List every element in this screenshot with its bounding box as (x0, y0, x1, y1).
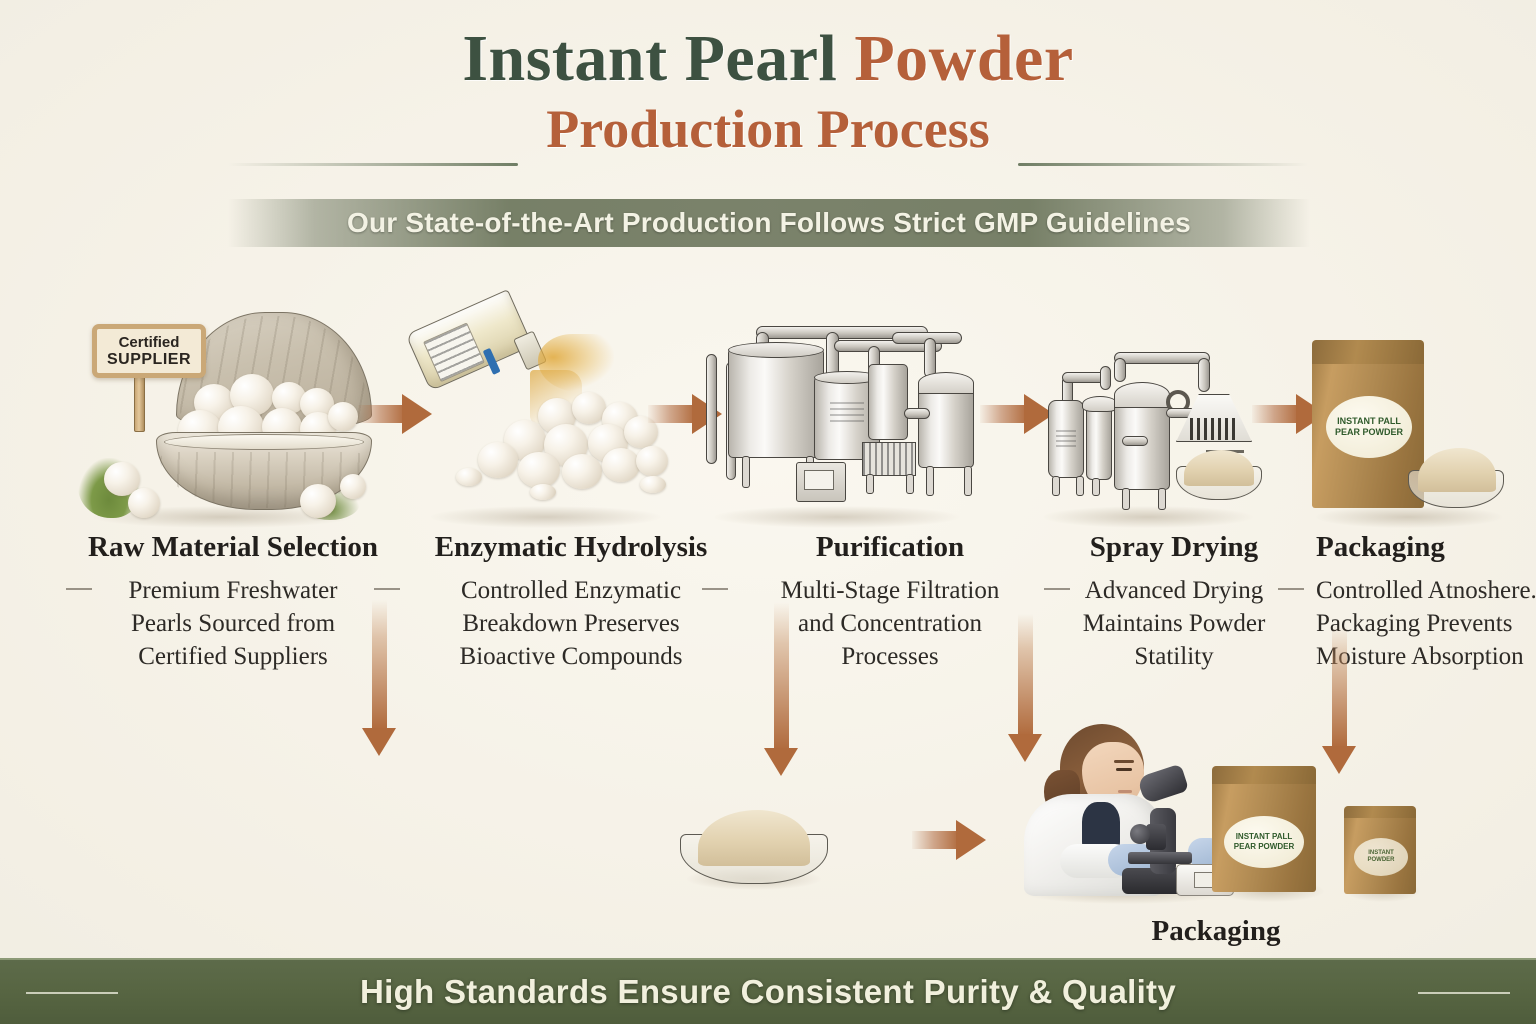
bag-label-line2: POWDER (1368, 857, 1395, 865)
subtitle-banner: Our State-of-the-Art Production Follows … (228, 199, 1310, 247)
product-bag-top-seal (1212, 766, 1316, 784)
purification-tank-right (918, 382, 974, 468)
arrow-head (362, 728, 396, 756)
arrow-shaft (774, 602, 789, 750)
step-title: Enzymatic Hydrolysis (416, 532, 726, 564)
page-title: Instant Pearl Powder (0, 24, 1536, 93)
arrow-shaft (912, 831, 960, 849)
product-bag-top-seal (1344, 806, 1416, 818)
mid-column (1086, 404, 1112, 480)
pearl (602, 448, 640, 482)
dryer-dome (1114, 382, 1170, 408)
illustration-enzymatic-hydrolysis (412, 328, 680, 524)
step-description: Advanced Drying Maintains Powder Statili… (1040, 574, 1308, 673)
bag-label-line2: PEAR POWDER (1234, 842, 1294, 852)
pearl (478, 442, 518, 478)
tank-gauge-text (830, 402, 864, 424)
arrow-head (956, 820, 986, 860)
pearl-loose (340, 474, 366, 499)
shadow (1043, 506, 1253, 528)
technician-mouth (1118, 790, 1132, 793)
pearl (636, 446, 668, 476)
pearl (572, 392, 606, 424)
shell-rim-highlight (164, 434, 364, 450)
illustration-purification (694, 316, 980, 524)
illustration-bottom-bag-large: INSTANT PALL PEAR POWDER (1208, 766, 1332, 898)
footer-banner: High Standards Ensure Consistent Purity … (0, 958, 1536, 1024)
arrow-shaft (1332, 626, 1347, 748)
tank-leg (742, 456, 750, 488)
pearl (518, 452, 560, 488)
pearl (562, 454, 602, 489)
pipe-horizontal (1114, 352, 1210, 364)
step-title: Packaging (1300, 532, 1536, 564)
decorative-dash (66, 588, 92, 590)
pearl-loose (128, 488, 160, 518)
step-title: Raw Material Selection (58, 532, 408, 564)
pipe-vertical (1100, 366, 1111, 390)
tank-leg (1158, 488, 1166, 510)
sign-label-line1: Certified (119, 334, 180, 351)
pearl-loose (300, 484, 336, 518)
microscope-focus-knob-icon (1130, 824, 1150, 844)
tank-lid (728, 342, 824, 358)
title-part-powder: Powder (854, 22, 1073, 95)
tank-leg (906, 474, 914, 494)
pipe-vertical (1198, 358, 1210, 392)
bag-label-line2: PEAR POWDER (1335, 427, 1403, 438)
illustration-raw-material-selection: Certified SUPPLIER (72, 306, 372, 524)
powder-heap (698, 810, 810, 866)
infographic-poster: Instant Pearl Powder Production Process … (0, 0, 1536, 1024)
product-bag-label: INSTANT PALL PEAR POWDER (1224, 816, 1304, 868)
shadow (714, 506, 960, 528)
step-desc-line: Premium Freshwater (58, 574, 408, 607)
pipe-outlet-low (1122, 436, 1148, 446)
divider-line-left (228, 163, 518, 166)
step-column-2: Enzymatic Hydrolysis Controlled Enzymati… (416, 532, 726, 673)
pipe-vertical (706, 354, 717, 464)
step-description: Controlled Enzymatic Breakdown Preserves… (416, 574, 726, 673)
bag-label-line1: INSTANT (1368, 850, 1394, 858)
pearl (640, 476, 666, 493)
powder-heap (1418, 448, 1496, 492)
spray-nozzle-grid (1190, 418, 1238, 440)
technician-brow (1114, 760, 1134, 763)
pipe-outlet (904, 408, 930, 419)
technician-eye-closed (1116, 768, 1132, 771)
purification-tank-main (728, 348, 824, 458)
flow-arrow-down-icon (1322, 626, 1356, 778)
arrow-shaft (372, 600, 387, 730)
tank-leg (1122, 488, 1130, 510)
page-subtitle-production-process: Production Process (0, 101, 1536, 158)
arrow-shaft (1252, 405, 1300, 423)
illustration-packaging: INSTANT PALL PEAR POWDER (1300, 330, 1518, 524)
mid-column-hood (1082, 396, 1118, 412)
illustration-bottom-bag-small: INSTANT POWDER (1340, 806, 1426, 898)
poster-title-block: Instant Pearl Powder Production Process (0, 24, 1536, 158)
certified-supplier-sign: Certified SUPPLIER (92, 324, 206, 378)
step-column-4: Spray Drying Advanced Drying Maintains P… (1040, 532, 1308, 673)
arrow-head (764, 748, 798, 776)
microscope-stage (1128, 852, 1192, 864)
illustration-bottom-powder-dish (676, 808, 832, 894)
title-part-instant-pearl: Instant Pearl (462, 22, 837, 95)
illustration-spray-drying (1026, 338, 1270, 524)
condenser-text (1056, 430, 1076, 450)
arrow-shaft (980, 405, 1028, 423)
pearl (328, 402, 358, 431)
shadow (1315, 506, 1502, 528)
divider-line-right (1018, 163, 1308, 166)
bottom-section-caption: Packaging (1086, 915, 1346, 948)
footer-text: High Standards Ensure Consistent Purity … (360, 973, 1176, 1011)
tank-leg (926, 466, 934, 496)
step-description: Premium Freshwater Pearls Sourced from C… (58, 574, 408, 673)
step-desc-line: Pearls Sourced from (58, 607, 408, 640)
decorative-dash (702, 588, 728, 590)
subtitle-text: Our State-of-the-Art Production Follows … (347, 207, 1191, 239)
pearl (530, 484, 556, 500)
step-title: Purification (740, 532, 1040, 564)
product-bag-label-small: INSTANT POWDER (1354, 838, 1408, 876)
arrow-shaft (648, 405, 696, 423)
step-desc-line: Controlled Enzymatic (416, 574, 726, 607)
bag-label-line1: INSTANT PALL (1337, 416, 1401, 427)
flow-arrow-down-icon (764, 602, 798, 782)
step-desc-line: Breakdown Preserves (416, 607, 726, 640)
product-bag-label: INSTANT PALL PEAR POWDER (1326, 396, 1412, 458)
bag-label-line1: INSTANT PALL (1236, 832, 1293, 842)
step-column-1: Raw Material Selection Premium Freshwate… (58, 532, 408, 673)
pearl (456, 468, 482, 486)
control-panel-screen (804, 470, 834, 490)
decorative-dash (1044, 588, 1070, 590)
step-desc-line: Bioactive Compounds (416, 640, 726, 673)
filter-base (862, 442, 916, 476)
step-desc-line: Maintains Powder (1040, 607, 1308, 640)
powder-heap (1184, 450, 1254, 486)
flow-arrow-down-icon (362, 600, 396, 762)
step-title: Spray Drying (1040, 532, 1308, 564)
decorative-dash (374, 588, 400, 590)
step-desc-line: Statility (1040, 640, 1308, 673)
stage-illustration-row: Certified SUPPLIER (0, 296, 1536, 524)
tank-leg (1076, 476, 1084, 496)
tank-leg (964, 466, 972, 496)
tank-leg (866, 474, 874, 494)
title-divider (0, 163, 1536, 166)
filter-column (868, 364, 908, 440)
flow-arrow-right-icon (912, 820, 986, 860)
step-desc-line: Controlled Atnoshere. (1316, 574, 1536, 607)
product-bag-top-seal (1312, 340, 1424, 364)
step-desc-line: Certified Suppliers (58, 640, 408, 673)
pipe-vertical (1114, 358, 1126, 382)
step-desc-line: Advanced Drying (1040, 574, 1308, 607)
tank-leg (1052, 476, 1060, 496)
arrow-shaft (358, 405, 406, 423)
tank-leg (1092, 478, 1100, 496)
sign-label-line2: SUPPLIER (107, 351, 191, 369)
tank-dome (918, 372, 974, 394)
shadow (431, 506, 661, 528)
microscope-eyepiece (1137, 764, 1189, 805)
